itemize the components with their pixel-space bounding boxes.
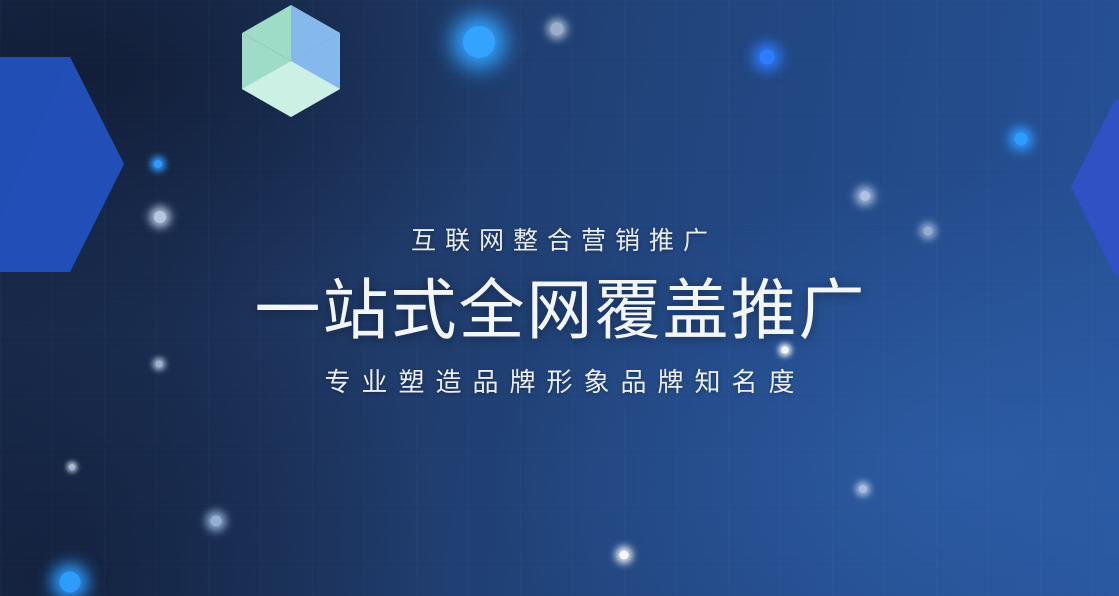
hero-eyebrow: 互联网整合营销推广 — [0, 222, 1119, 260]
decorative-dot — [1015, 133, 1028, 146]
decorative-dot — [69, 464, 75, 470]
decorative-dot — [620, 551, 629, 560]
cube-logo-icon — [242, 5, 340, 117]
decorative-dot — [211, 516, 222, 527]
decorative-dot — [860, 191, 870, 201]
decorative-dot — [60, 572, 81, 593]
decorative-dot — [154, 160, 162, 168]
hero-headline: 一站式全网覆盖推广 — [0, 271, 1119, 349]
hero-copy: 互联网整合营销推广 一站式全网覆盖推广 专业塑造品牌形象品牌知名度 — [0, 222, 1119, 401]
decorative-dot — [859, 485, 867, 493]
decorative-dot — [551, 23, 564, 36]
decorative-dot — [463, 26, 495, 58]
hero-tagline: 专业塑造品牌形象品牌知名度 — [0, 363, 1119, 401]
decorative-dot — [760, 50, 775, 65]
promo-banner: 互联网整合营销推广 一站式全网覆盖推广 专业塑造品牌形象品牌知名度 — [0, 0, 1119, 596]
